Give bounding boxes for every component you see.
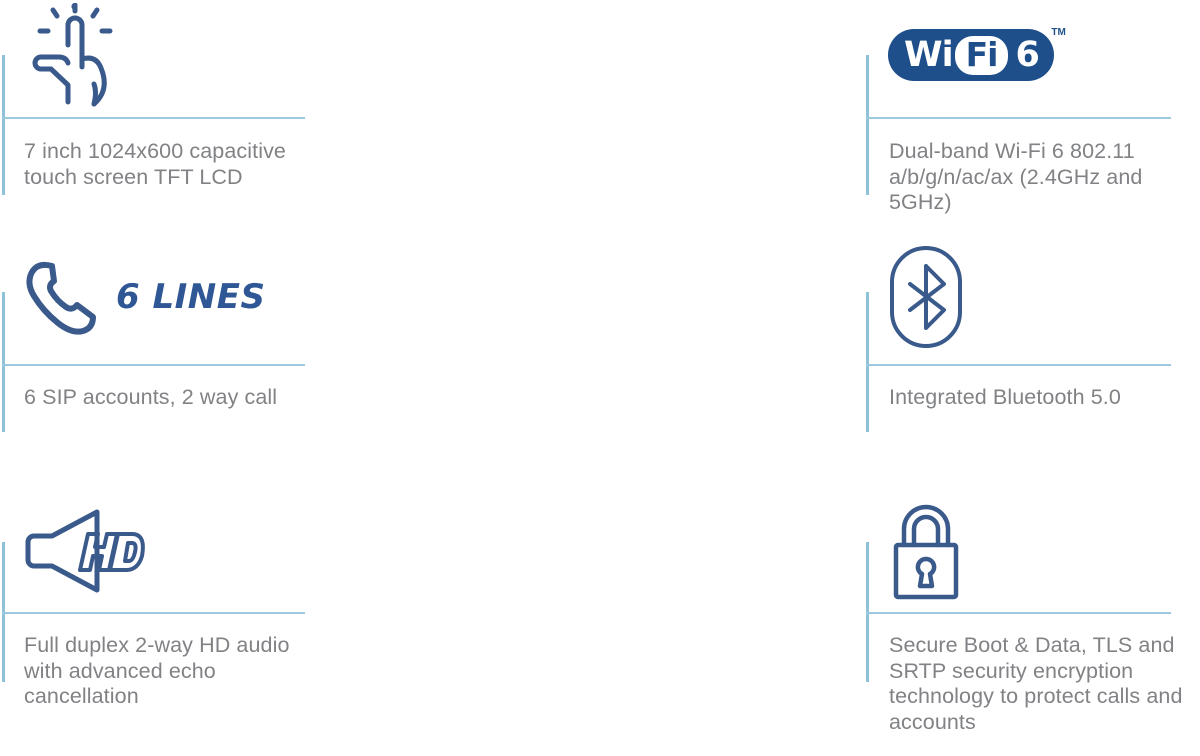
divider-rule bbox=[2, 364, 305, 366]
accent-bar bbox=[2, 292, 5, 432]
feature-cell-meeting-room: Monitor room occupancy status, reserve m… bbox=[865, 500, 1200, 756]
divider-rule bbox=[2, 117, 305, 119]
feature-cell-android: Runs Android and supports HVAC, lighting… bbox=[865, 250, 1200, 500]
hd-speaker-icon: HD bbox=[22, 496, 154, 606]
accent-bar bbox=[2, 55, 5, 195]
feature-cell-bluetooth: Integrated Bluetooth 5.0 bbox=[433, 250, 865, 500]
touch-screen-icon bbox=[22, 0, 118, 110]
feature-cell-alarm-ports: 8x alarm input ports and 2x alarm output… bbox=[865, 0, 1200, 250]
feature-cell-hd-audio: HD Full duplex 2-way HD audio with advan… bbox=[0, 500, 433, 756]
feature-cell-six-lines: 6 LINES 6 SIP accounts, 2 way call bbox=[0, 250, 433, 500]
feature-description: 6 SIP accounts, 2 way call bbox=[24, 385, 324, 411]
divider-rule bbox=[2, 612, 305, 614]
phone-handset-icon: 6 LINES bbox=[22, 242, 265, 352]
feature-grid: 7 inch 1024x600 capacitive touch screen … bbox=[0, 0, 1200, 756]
feature-cell-touch-screen: 7 inch 1024x600 capacitive touch screen … bbox=[0, 0, 433, 250]
feature-cell-wifi6: Wi Fi 6 TM Dual-band Wi-Fi 6 802.11 a/b/… bbox=[433, 0, 865, 250]
six-lines-label: 6 LINES bbox=[116, 277, 265, 317]
feature-description: 7 inch 1024x600 capacitive touch screen … bbox=[24, 139, 324, 190]
feature-cell-security: Secure Boot & Data, TLS and SRTP securit… bbox=[433, 500, 865, 756]
feature-description: Full duplex 2-way HD audio with advanced… bbox=[24, 633, 324, 710]
